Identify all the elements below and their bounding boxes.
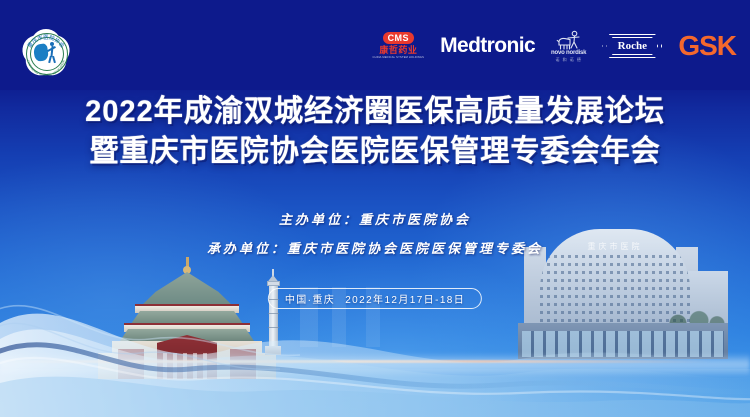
event-date: 2022年12月17日-18日 bbox=[345, 291, 465, 306]
event-title: 2022年成渝双城经济圈医保高质量发展论坛 暨重庆市医院协会医院医保管理专委会年… bbox=[0, 92, 750, 172]
host-organization-line: 主办单位：重庆市医院协会 bbox=[0, 205, 750, 234]
title-line-1: 2022年成渝双城经济圈医保高质量发展论坛 bbox=[11, 92, 739, 132]
svg-text:重庆市医院协会: 重庆市医院协会 bbox=[25, 33, 67, 50]
title-line-2: 暨重庆市医院协会医院医保管理专委会年会 bbox=[11, 132, 739, 172]
sponsor-logo-medtronic[interactable]: Medtronic bbox=[440, 28, 535, 64]
organizing-committee-line: 承办单位：重庆市医院协会医院医保管理专委会 bbox=[0, 234, 750, 263]
association-logo: 重庆市医院协会 CHONGQING HOSPITAL ASSOCIATION bbox=[18, 27, 74, 79]
event-info-pill: 中国·重庆 2022年12月17日-18日 bbox=[268, 288, 482, 309]
novo-nordisk-wordmark: novo nordisk bbox=[551, 50, 586, 57]
sponsor-logo-novo-nordisk[interactable]: novo nordisk 诺 和 诺 德 bbox=[551, 28, 586, 64]
roche-wordmark: Roche bbox=[602, 34, 662, 58]
novo-nordisk-chinese-name: 诺 和 诺 德 bbox=[556, 57, 582, 62]
association-logo-arc-text: 重庆市医院协会 CHONGQING HOSPITAL ASSOCIATION bbox=[18, 27, 74, 79]
sponsor-logo-gsk[interactable]: GSK bbox=[678, 28, 736, 64]
event-location: 中国·重庆 bbox=[285, 291, 335, 306]
sponsor-logos: CMS 康哲药业 CHINA MEDICAL SYSTEM HOLDINGS M… bbox=[373, 28, 736, 64]
cms-badge-text: CMS bbox=[383, 32, 415, 44]
svg-text:CHONGQING HOSPITAL ASSOCIATION: CHONGQING HOSPITAL ASSOCIATION bbox=[26, 60, 65, 77]
sponsor-logo-cms[interactable]: CMS 康哲药业 CHINA MEDICAL SYSTEM HOLDINGS bbox=[373, 28, 425, 64]
conference-banner: 重庆市医院 bbox=[0, 0, 750, 417]
cms-chinese-name: 康哲药业 bbox=[379, 45, 417, 55]
cms-english-name: CHINA MEDICAL SYSTEM HOLDINGS bbox=[373, 56, 425, 60]
novo-nordisk-bull-icon bbox=[555, 30, 583, 50]
organizer-block: 主办单位：重庆市医院协会 承办单位：重庆市医院协会医院医保管理专委会 bbox=[0, 205, 750, 263]
header-bar: 重庆市医院协会 CHONGQING HOSPITAL ASSOCIATION C… bbox=[0, 0, 750, 90]
sponsor-logo-roche[interactable]: Roche bbox=[602, 28, 662, 64]
